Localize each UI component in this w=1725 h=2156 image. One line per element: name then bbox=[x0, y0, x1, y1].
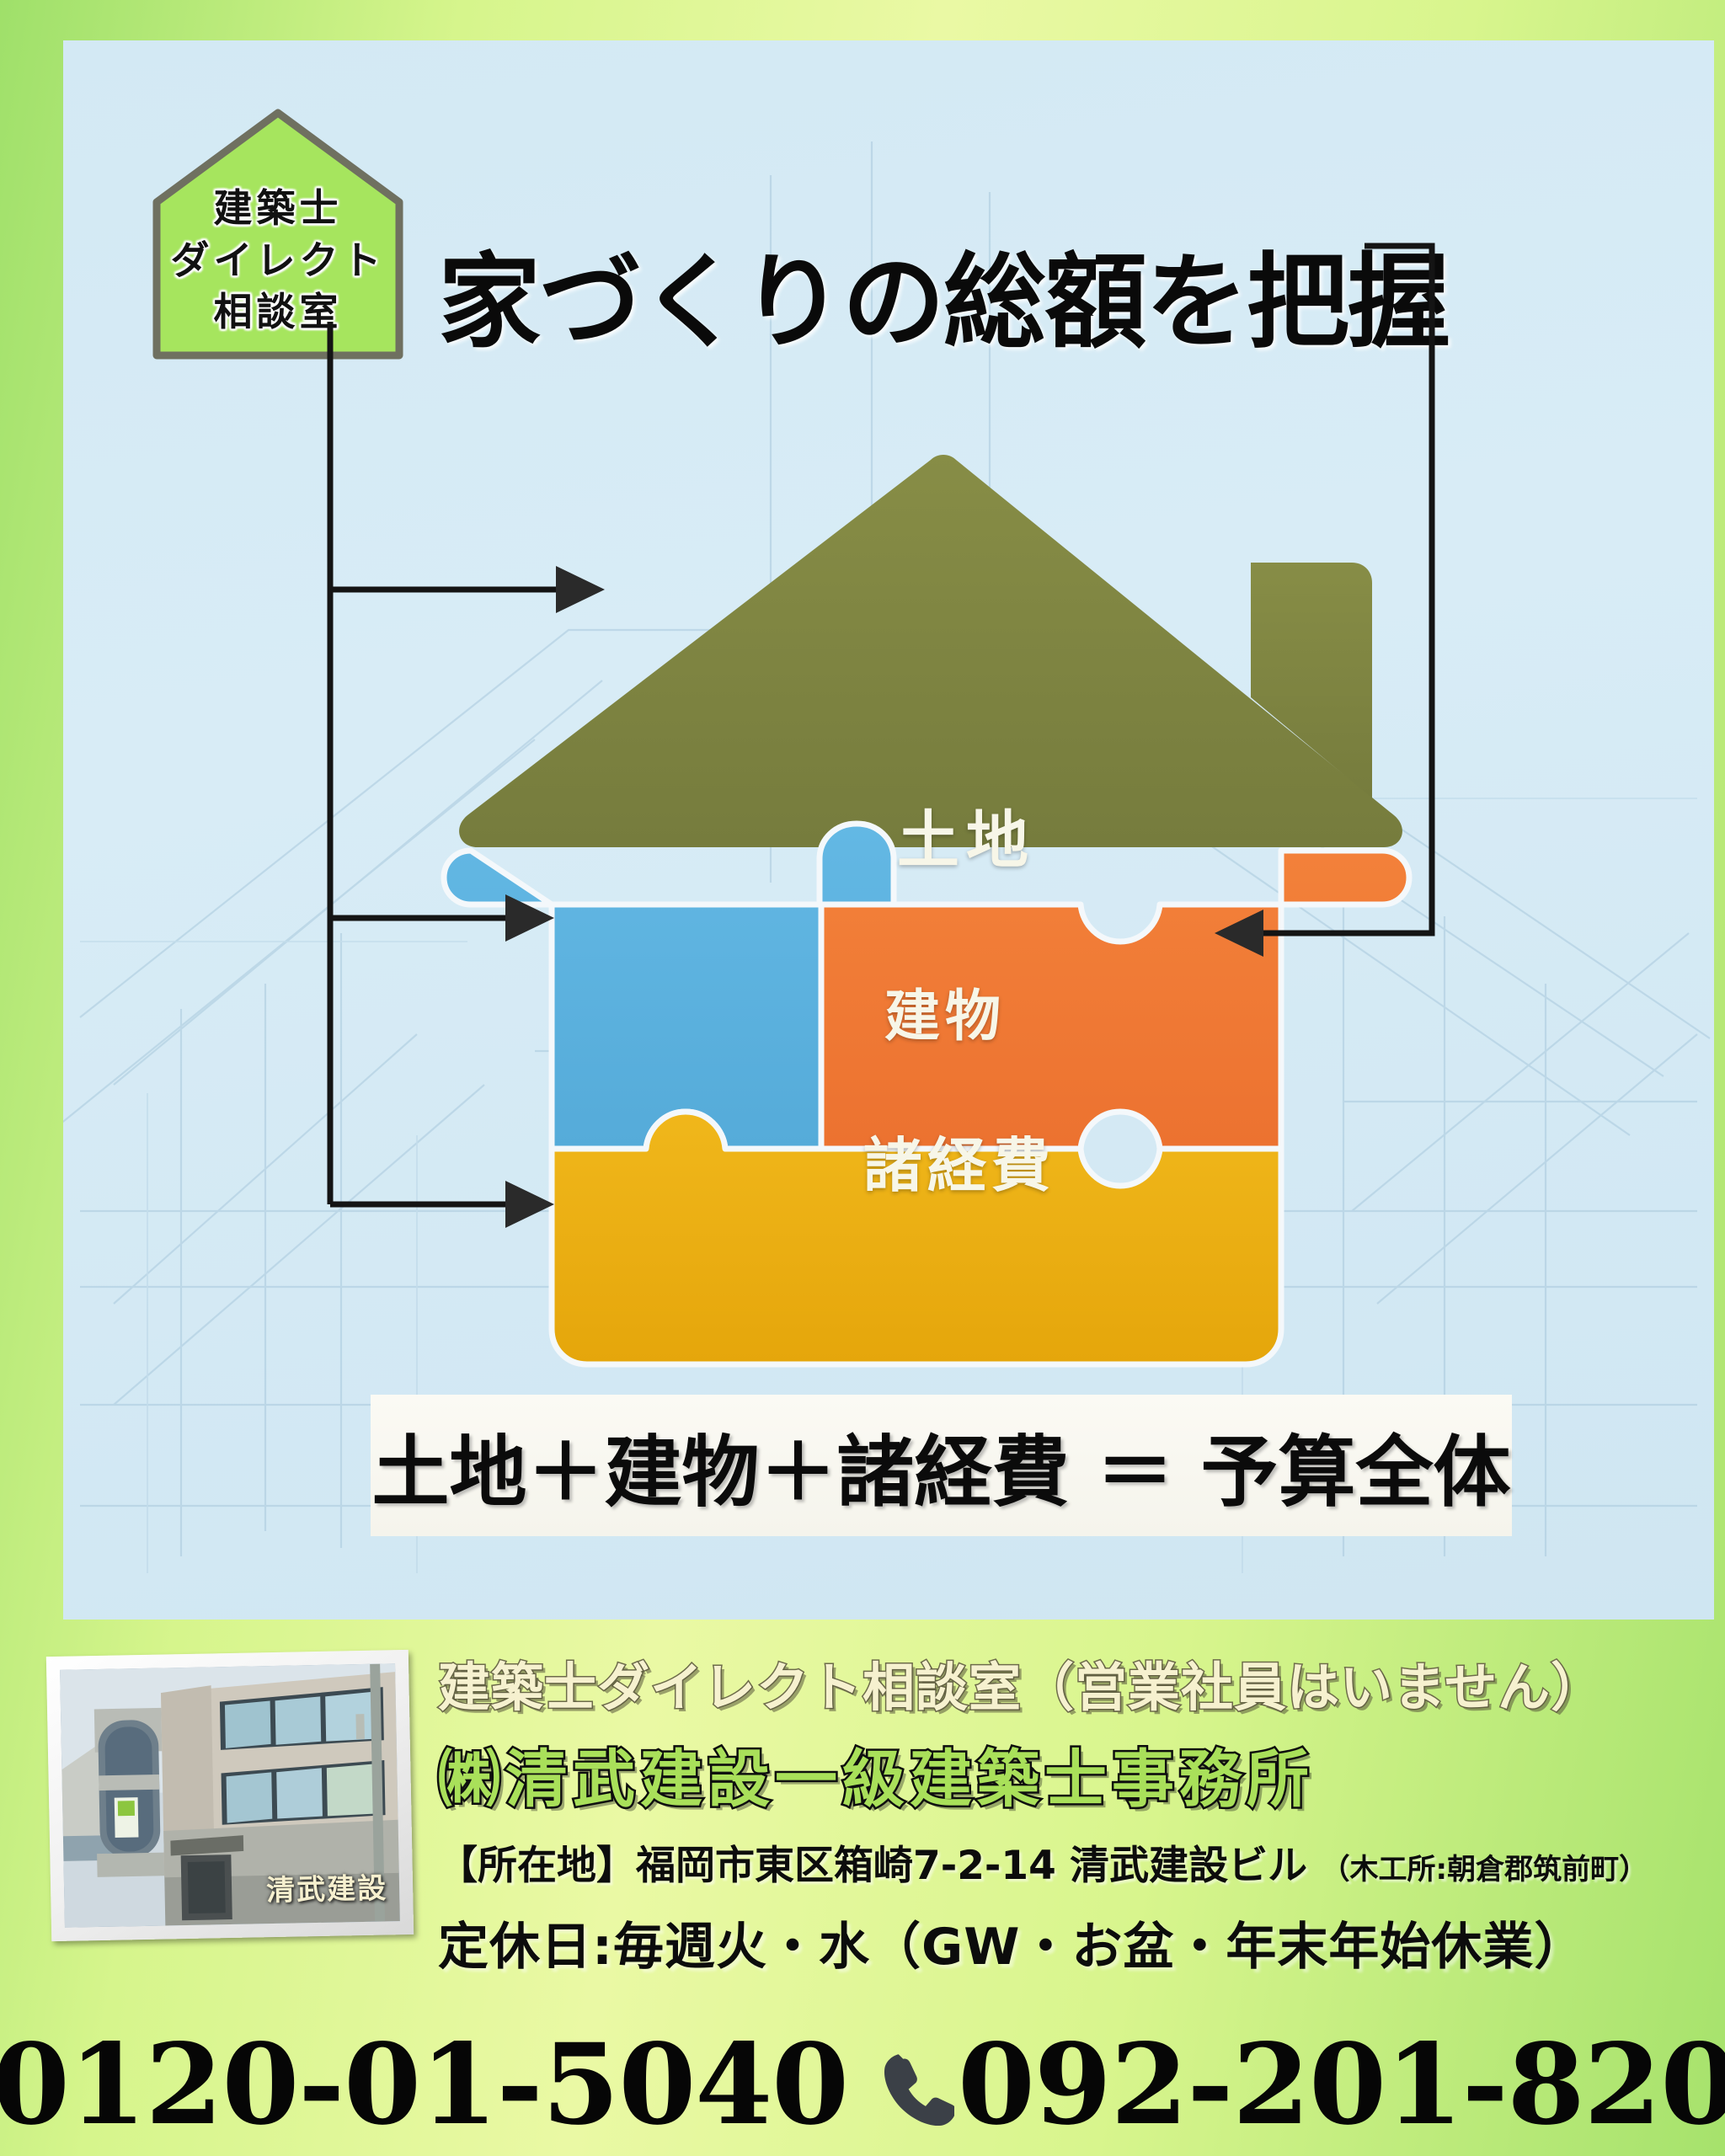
piece-label-building: 建物 bbox=[884, 971, 1006, 1052]
logo-line-2: ダイレクト bbox=[171, 235, 386, 287]
phone-row: 0120-01-5040 092-201-8201 bbox=[0, 2015, 1725, 2154]
address-line: 【所在地】福岡市東区箱崎7-2-14 清武建設ビル （木工所:朝倉郡筑前町） bbox=[438, 1833, 1693, 1891]
equation-box: 土地＋建物＋諸経費 ＝ 予算全体 bbox=[371, 1395, 1512, 1536]
phone-local[interactable]: 092-201-8201 bbox=[877, 2030, 1725, 2141]
holiday-line: 定休日:毎週火・水（GW・お盆・年末年始休業） bbox=[438, 1906, 1693, 1979]
puzzle-house-diagram: 土地 建物 諸経費 bbox=[425, 445, 1436, 1380]
phone-number-freedial: 0120-01-5040 bbox=[0, 2030, 848, 2141]
logo-line-1: 建築士 bbox=[214, 183, 343, 235]
photo-caption: 清武建設 bbox=[266, 1865, 388, 1908]
phone-icon bbox=[877, 2043, 954, 2127]
phone-number-local: 092-201-8201 bbox=[958, 2030, 1725, 2141]
equation-text: 土地＋建物＋諸経費 ＝ 予算全体 bbox=[371, 1410, 1510, 1522]
poster-root: 建築士 ダイレクト 相談室 家づくりの総額を把握 bbox=[0, 0, 1725, 2156]
address-main: 【所在地】福岡市東区箱崎7-2-14 清武建設ビル bbox=[438, 1843, 1307, 1889]
tagline: 建築士ダイレクト相談室（営業社員はいません） bbox=[438, 1645, 1693, 1721]
office-photo: 清武建設 bbox=[60, 1663, 400, 1928]
company-name: ㈱清武建設一級建築士事務所 bbox=[438, 1729, 1693, 1819]
brand-logo: 建築士 ダイレクト 相談室 bbox=[152, 108, 404, 360]
piece-label-expenses: 諸経費 bbox=[863, 1118, 1055, 1203]
piece-label-land: 土地 bbox=[897, 790, 1035, 880]
page-title: 家づくりの総額を把握 bbox=[438, 219, 1449, 368]
company-info: 建築士ダイレクト相談室（営業社員はいません） ㈱清武建設一級建築士事務所 【所在… bbox=[438, 1645, 1693, 1979]
puzzle-house-svg bbox=[425, 445, 1436, 1380]
office-photo-frame: 清武建設 bbox=[46, 1650, 414, 1941]
address-sub: （木工所:朝倉郡筑前町） bbox=[1322, 1853, 1648, 1886]
footer-block: 清武建設 建築士ダイレクト相談室（営業社員はいません） ㈱清武建設一級建築士事務… bbox=[0, 1620, 1725, 2156]
logo-line-3: 相談室 bbox=[214, 286, 343, 339]
main-panel: 建築士 ダイレクト 相談室 家づくりの総額を把握 bbox=[63, 40, 1714, 1620]
phone-freedial[interactable]: 0120-01-5040 bbox=[0, 2030, 848, 2141]
